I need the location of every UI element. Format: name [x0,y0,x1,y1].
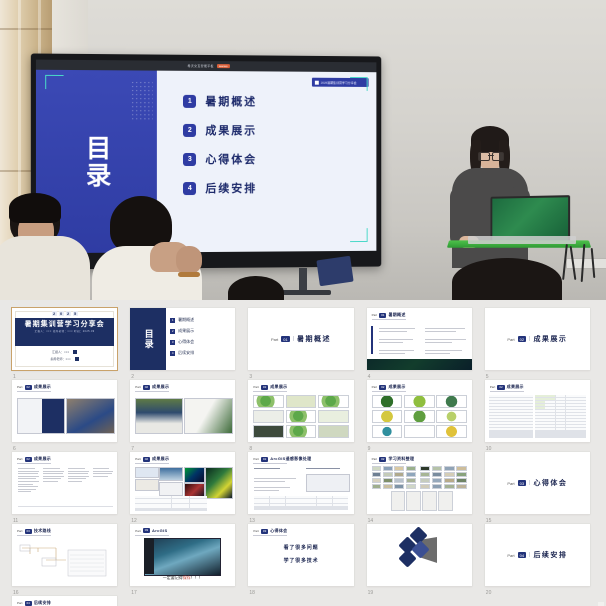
corner-bracket-icon [45,75,63,89]
bracelet [178,272,200,277]
slide-grid-scroll[interactable]: 2 0 2 5 暑期集训营学习分享会 汇报人：××× 指导老师：××× 时间：2… [0,300,596,606]
tv-brand-pill: seewo [217,64,230,68]
slide-thumbnail-17[interactable]: Part03ArcGIS 一定要记得保存！！！ [130,524,235,586]
slide-cell[interactable]: 19 [367,524,472,596]
slide-cell[interactable]: Part02成果展示 11 [12,452,117,524]
agenda-label: 暑期概述 [205,93,257,109]
slide-cell[interactable]: Part02学习资料整理 [367,452,472,524]
slide-grid: 2 0 2 5 暑期集训营学习分享会 汇报人：××× 指导老师：××× 时间：2… [12,308,590,606]
tablet-device [316,256,353,286]
slide-thumbnail-10[interactable]: Part02成果展示 [485,380,590,442]
slide-badge: 02 [379,385,386,390]
section-title: 成果展示 [533,334,567,344]
toc-number: 2 [170,329,175,334]
section-title: 心得体会 [533,478,567,488]
slide-badge: 02 [25,457,32,462]
cables [560,244,606,284]
slide-cell[interactable]: Part02成果展示 [130,452,235,524]
slide-badge: 02 [497,385,504,390]
agenda-row: 2 成果展示 [183,122,376,138]
cover-subtitle: 汇报人：××× 指导老师：××× 时间：2025.09 [12,329,117,333]
tv-brand-label: 希沃交互智能平板 [187,64,213,68]
slide-cell[interactable]: 2 0 2 5 暑期集训营学习分享会 汇报人：××× 指导老师：××× 时间：2… [12,308,117,380]
corner-bracket-icon [350,77,368,91]
slide-title: 成果展示 [388,384,405,390]
square-icon [73,350,77,354]
section-badge: 01 [281,336,289,342]
audience-member-hair [9,193,61,223]
slide-cell[interactable]: Part 03 | 心得体会 15 [485,452,590,524]
year-digit: 5 [73,311,78,316]
year-digit: 0 [59,311,64,316]
flow-diagram-icon [16,540,112,578]
slide-thumbnail-19[interactable] [367,524,472,586]
slide-badge: 01 [379,313,386,318]
slide-thumbnail-12[interactable]: Part02成果展示 [130,452,235,514]
agenda-row: 4 后续安排 [183,180,376,196]
slide-thumbnail-18[interactable]: Part03心得体会 看了很多问题 学了很多技术 [248,524,353,586]
slide-thumbnail-4[interactable]: Part01暑期概述 [367,308,472,370]
slide-number: 17 [131,590,137,596]
agenda-number: 3 [183,152,196,165]
slide-badge: 02 [379,457,386,462]
slide-number: 20 [486,590,492,596]
toc-label: 后续安排 [178,350,194,356]
cover-meta-text: 汇报人：××× [52,350,69,354]
caption-prefix: 一定要记得 [163,575,183,580]
live-slide: 目录 2025暑期集训营学习分享会 1 暑期概述 2 成 [36,70,376,254]
agenda-number: 4 [183,182,196,195]
slide-title: 成果展示 [34,384,51,390]
slide-part-label: Part [17,529,23,533]
slide-part-label: Part [253,385,259,389]
agenda-number: 1 [183,94,196,107]
toc-number: 1 [170,318,175,323]
slide-part-label: Part [135,457,141,461]
cover-year: 2 0 2 5 [12,311,117,316]
slide-thumbnail-15[interactable]: Part 03 | 心得体会 [485,452,590,514]
slide-thumbnail-3[interactable]: Part 01 | 暑期概述 [248,308,353,370]
slide-thumbnail-21[interactable]: Part04后续安排 [12,596,117,606]
caption-suffix: ！！！ [191,575,203,580]
slide-cell[interactable]: 目录 1暑期概述 2成果展示 3心得体会 4后续安排 2 [130,308,235,380]
slide-thumbnail-8[interactable]: Part02成果展示 [248,380,353,442]
slide-cell[interactable]: Part02成果展示 8 [248,380,353,452]
toc-label: 心得体会 [178,339,194,345]
agenda-row: 1 暑期概述 [183,93,376,110]
dot-pattern [131,80,153,120]
toc-title: 目录 [142,329,155,349]
slide-badge: 02 [261,385,268,390]
slide-thumbnail-20[interactable]: Part 04 | 后续安排 [485,524,590,586]
section-title: 暑期概述 [297,334,331,344]
slide-title: 成果展示 [152,384,169,390]
slide-title: ArcGIS [152,528,167,533]
screenshot-root: 希沃交互智能平板 seewo 目录 2025暑期集训营学习分享会 [0,0,606,606]
slide-thumbnail-9[interactable]: Part02成果展示 [367,380,472,442]
slide-cell[interactable]: Part03ArcGIS 一定要记得保存！！！ 17 [130,524,235,596]
toc-number: 4 [170,351,175,356]
chip-square-icon [315,80,319,84]
slide-badge: 04 [25,601,32,606]
toc-label: 成果展示 [178,328,194,334]
slide-part-label: Part [372,457,378,461]
slide-part-label: Part [17,457,23,461]
slide-badge: 02 [25,385,32,390]
agenda-label: 心得体会 [205,151,257,167]
slide-cell[interactable]: Part04后续安排 [12,596,117,606]
slide-part-label: Part [372,313,378,317]
year-digit: 2 [66,311,71,316]
slide-badge: 03 [25,529,32,534]
slide-title: 成果展示 [34,456,51,462]
live-slide-agenda: 2025暑期集训营学习分享会 1 暑期概述 2 成果展示 3 心得体会 [157,71,376,253]
slide-title: 后续安排 [34,600,51,606]
section-part-label: Part [507,553,514,558]
slide-part-label: Part [17,385,23,389]
slide-cell[interactable]: Part01暑期概述 [367,308,472,380]
slide-title: 成果展示 [270,384,287,390]
audience-member-body [0,236,90,300]
section-part-label: Part [507,337,514,342]
divider-icon: | [529,480,530,486]
slide-title: 技术路线 [34,528,51,534]
display-screen: 希沃交互智能平板 seewo 目录 2025暑期集训营学习分享会 [36,60,376,254]
diamond-graphic [399,535,439,575]
presenter-glasses-icon [478,152,504,159]
slide-title: 学习资料整理 [388,456,414,462]
slide-body-line: 看了很多问题 [248,544,353,551]
slide-body-line: 学了很多技术 [248,557,353,564]
audience-member-head [452,258,562,300]
section-badge: 02 [518,336,526,342]
live-slide-catalog-title: 目录 [84,134,110,189]
section-title: 后续安排 [533,550,567,560]
audience-member-hand [176,246,202,274]
divider-icon: | [529,552,530,558]
caption-emphasis: 保存 [183,575,191,580]
slide-thumbnail-14[interactable]: Part02学习资料整理 [367,452,472,514]
agenda-number: 2 [183,123,196,136]
slide-thumbnail-5[interactable]: Part 02 | 成果展示 [485,308,590,370]
laptop-keyboard [468,236,576,244]
presentation-photo: 希沃交互智能平板 seewo 目录 2025暑期集训营学习分享会 [0,0,606,300]
corner-bracket-icon [350,228,368,242]
slide-thumbnail-11[interactable]: Part02成果展示 [12,452,117,514]
agenda-label: 成果展示 [205,122,257,138]
slide-title: 暑期概述 [388,312,405,318]
slide-part-label: Part [253,457,259,461]
display-stand [299,268,307,292]
slide-thumbnail-2[interactable]: 目录 1暑期概述 2成果展示 3心得体会 4后续安排 [130,308,235,370]
slide-cell[interactable]: Part02成果展示 6 [12,380,117,452]
slide-thumbnail-13[interactable]: Part02ArcGIS遥感影像处理 [248,452,353,514]
section-part-label: Part [271,337,278,342]
slide-thumbnail-7[interactable]: Part02成果展示 [130,380,235,442]
slide-part-label: Part [17,601,23,605]
slide-badge: 03 [143,528,150,533]
cover-meta: 汇报人：××× 指导老师：××× [12,350,117,361]
slide-cell[interactable]: Part02成果展示 7 [130,380,235,452]
slide-thumbnail-16[interactable]: Part03技术路线 [12,524,117,586]
slide-part-label: Part [372,385,378,389]
section-part-label: Part [507,481,514,486]
divider-icon: | [293,336,294,342]
slide-part-label: Part [135,385,141,389]
slide-cell[interactable]: Part 02 | 成果展示 5 [485,308,590,380]
slide-part-label: Part [135,529,141,533]
cover-meta-text: 指导老师：××× [50,357,70,361]
slide-badge: 02 [143,457,150,462]
divider-icon: | [529,336,530,342]
interactive-display: 希沃交互智能平板 seewo 目录 2025暑期集训营学习分享会 [31,53,381,269]
year-digit: 2 [52,311,57,316]
slide-badge: 02 [143,385,150,390]
slide-title: 成果展示 [152,456,169,462]
agenda-label: 后续安排 [205,180,257,196]
slide-cell[interactable]: Part03心得体会 看了很多问题 学了很多技术 18 [248,524,353,596]
slide-part-label: Part [490,385,496,389]
slide-title: 心得体会 [270,528,287,534]
section-badge: 03 [518,480,526,486]
slide-thumbnail-1[interactable]: 2 0 2 5 暑期集训营学习分享会 汇报人：××× 指导老师：××× 时间：2… [12,308,117,370]
slide-number: 18 [249,590,255,596]
slide-cell[interactable]: Part02ArcGIS遥感影像处理 13 [248,452,353,524]
toc-number: 3 [170,340,175,345]
slide-part-label: Part [253,529,259,533]
slide-thumbnail-6[interactable]: Part02成果展示 [12,380,117,442]
slide-title: ArcGIS遥感影像处理 [270,456,311,462]
slide-badge: 02 [261,457,268,462]
square-icon [75,357,79,361]
slide-cell[interactable]: Part03技术路线 [12,524,117,596]
section-badge: 04 [518,552,526,558]
toc-label: 暑期概述 [178,317,194,323]
slide-cell[interactable]: Part02成果展示 [367,380,472,452]
slide-cell[interactable]: Part 04 | 后续安排 20 [485,524,590,596]
slide-cell[interactable]: Part02成果展示 [485,380,590,452]
slide-caption: 一定要记得保存！！！ [130,575,235,581]
slide-title: 成果展示 [507,384,524,390]
cover-title: 暑期集训营学习分享会 [12,319,117,329]
slide-badge: 03 [261,529,268,534]
agenda-row: 3 心得体会 [183,151,376,167]
slide-number: 19 [368,590,374,596]
slide-cell[interactable]: Part 01 | 暑期概述 3 [248,308,353,380]
slide-thumbnail-panel: 2 0 2 5 暑期集训营学习分享会 汇报人：××× 指导老师：××× 时间：2… [0,300,606,606]
